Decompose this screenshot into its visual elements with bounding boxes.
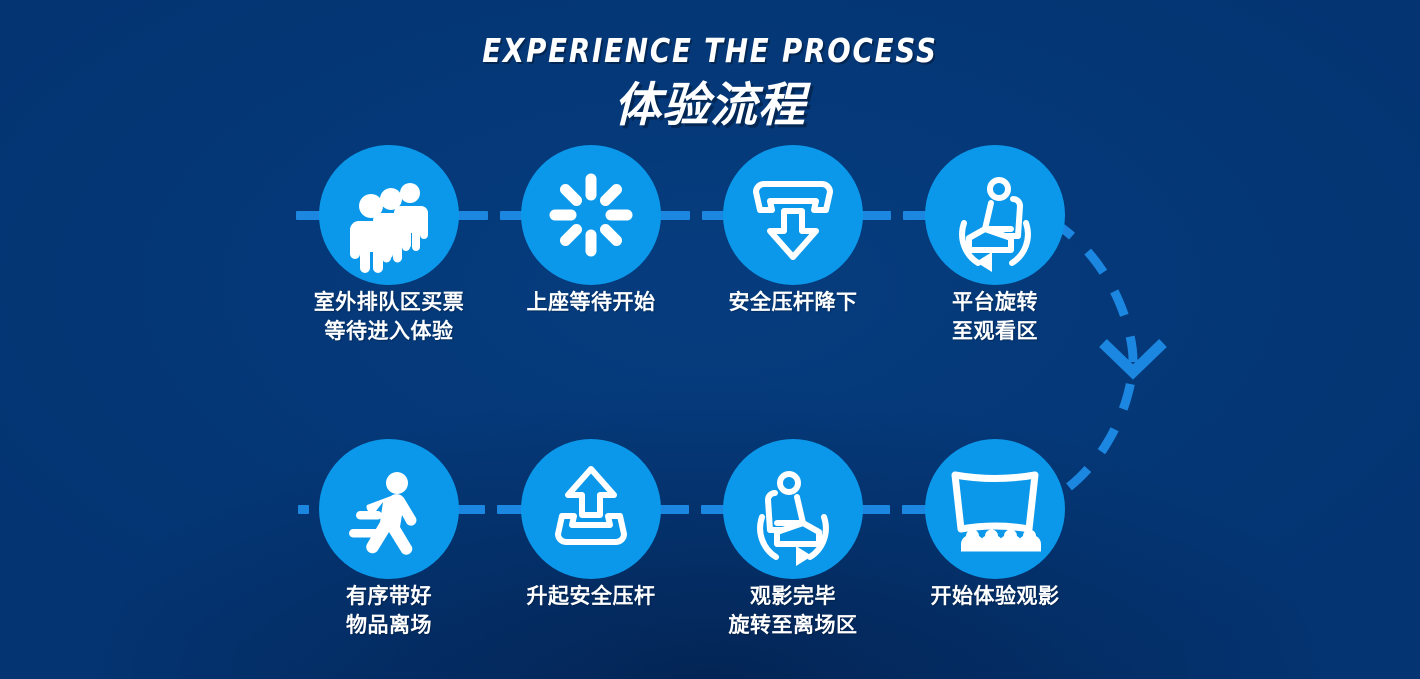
label-line: 平台旋转 [865, 288, 1125, 317]
flow-node-8[interactable]: 开始体验观影 [925, 439, 1065, 579]
flow-node-7[interactable]: 观影完毕 旋转至离场区 [723, 439, 863, 579]
connector-dash [861, 211, 891, 220]
queue-people-icon [319, 145, 459, 285]
safety-bar-down-icon [723, 145, 863, 285]
flow-node-4[interactable]: 平台旋转 至观看区 [925, 145, 1065, 285]
label-line: 至观看区 [865, 317, 1125, 346]
safety-bar-up-icon [521, 439, 661, 579]
seat-rotate-to-exit-icon [723, 439, 863, 579]
flow-row-2: 有序带好 物品离场 升起安全压杆 [0, 439, 1420, 579]
loading-spinner-icon [521, 145, 661, 285]
label-line: 等待进入体验 [259, 317, 519, 346]
flow-node-4-label: 平台旋转 至观看区 [865, 288, 1125, 346]
label-line: 旋转至离场区 [663, 611, 923, 640]
label-line: 物品离场 [259, 611, 519, 640]
connector-dash [860, 505, 890, 514]
walking-person-exit-icon [319, 439, 459, 579]
title-chinese: 体验流程 [0, 70, 1420, 133]
flow-node-6[interactable]: 升起安全压杆 [521, 439, 661, 579]
title-english: EXPERIENCE THE PROCESS [50, 0, 1371, 70]
seat-rotate-to-view-icon [925, 145, 1065, 285]
connector-dash [458, 211, 488, 220]
connector-dash [659, 505, 689, 514]
flow-node-1[interactable]: 室外排队区买票 等待进入体验 [319, 145, 459, 285]
connector-dash [455, 505, 485, 514]
label-line: 开始体验观影 [865, 582, 1125, 611]
flow-node-8-label: 开始体验观影 [865, 582, 1125, 611]
connector-dash [660, 211, 690, 220]
cinema-screen-audience-icon [925, 439, 1065, 579]
flow-node-3[interactable]: 安全压杆降下 [723, 145, 863, 285]
infographic-canvas: EXPERIENCE THE PROCESS 体验流程 [0, 0, 1420, 679]
flow-node-2[interactable]: 上座等待开始 [521, 145, 661, 285]
flow-node-5[interactable]: 有序带好 物品离场 [319, 439, 459, 579]
connector-dash [298, 505, 309, 514]
heading-group: EXPERIENCE THE PROCESS 体验流程 [0, 0, 1420, 133]
flow-row-1: 室外排队区买票 等待进入体验 [0, 145, 1420, 285]
